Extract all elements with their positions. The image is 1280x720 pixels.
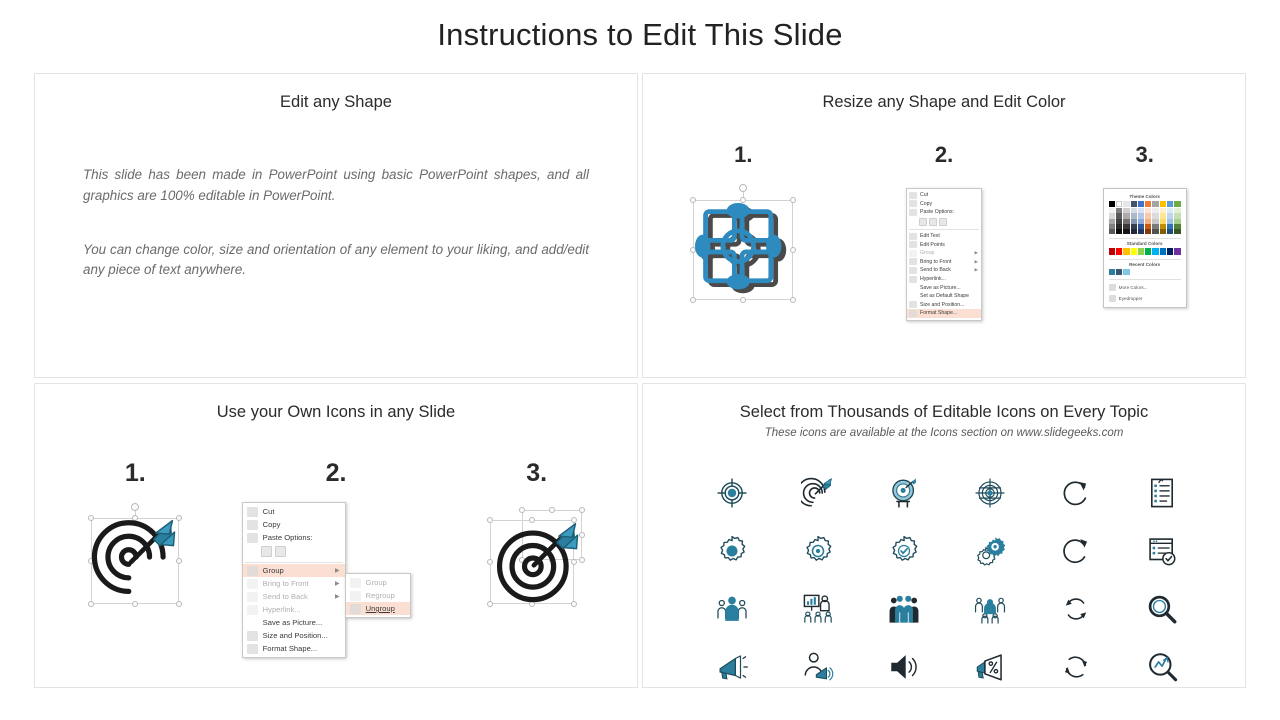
panel-edit-any-shape: Edit any Shape This slide has been made … [34, 73, 638, 378]
ctx-item-save-as-picture[interactable]: Save as Picture... [243, 616, 345, 629]
selected-shape-wrapper[interactable] [684, 186, 802, 304]
crosshair-target-icon[interactable] [715, 476, 749, 510]
resize-step-1-number: 1. [643, 142, 844, 168]
group-icon [909, 250, 917, 257]
swatch-orange[interactable] [1123, 248, 1129, 254]
chevron-right-icon: ▶ [335, 593, 340, 600]
standard-colors-label: Standard Colors [1109, 241, 1181, 246]
format-shape-icon [909, 310, 917, 317]
recent-colors-label: Recent Colors [1109, 262, 1181, 267]
swatch-green[interactable] [1145, 248, 1151, 254]
ctx-item-label: Save as Picture... [920, 285, 961, 291]
own-icons-step-1-number: 1. [35, 459, 236, 488]
ctx-item-bring-to-front[interactable]: Bring to Front ▶ [907, 258, 981, 267]
gear-check-icon[interactable] [887, 534, 921, 568]
ctx-item-label: Paste Options: [920, 209, 954, 215]
paste-option-buttons[interactable] [243, 544, 345, 560]
theme-tints-grid[interactable] [1109, 208, 1181, 234]
edit-text-icon [909, 233, 917, 240]
resize-step-2-art: Cut Copy Paste Options: [844, 188, 1045, 321]
submenu-item-label: Group [366, 578, 387, 587]
swatch-gray[interactable] [1152, 201, 1158, 207]
resize-step-3-art: Theme Colors [1044, 188, 1245, 308]
four-square-circle-shape [695, 202, 791, 298]
presentation-training-icon[interactable] [801, 592, 835, 626]
edit-points-icon [909, 241, 917, 248]
ctx-item-edit-points[interactable]: Edit Points [907, 240, 981, 249]
send-to-back-icon [247, 592, 258, 602]
swatch-black[interactable] [1109, 201, 1115, 207]
person-megaphone-icon[interactable] [801, 650, 835, 684]
save-picture-icon [909, 284, 917, 291]
tint-column[interactable] [1116, 208, 1122, 234]
own-icons-step-3-number: 3. [436, 459, 637, 488]
ungrouped-target-wrapper[interactable] [486, 506, 588, 606]
ctx-item-label: Send to Back [920, 267, 951, 273]
swatch-light-gray[interactable] [1123, 201, 1129, 207]
swatch-yellow[interactable] [1131, 248, 1137, 254]
tint-column[interactable] [1138, 208, 1144, 234]
ctx-item-size-and-position[interactable]: Size and Position... [243, 629, 345, 642]
ctx-item-label: Copy [920, 201, 932, 207]
page-title: Instructions to Edit This Slide [0, 0, 1280, 53]
meeting-group-icon[interactable] [973, 592, 1007, 626]
ctx-item-label: Format Shape... [920, 310, 957, 316]
swatch-dark-red[interactable] [1109, 248, 1115, 254]
ctx-item-size-and-position[interactable]: Size and Position... [907, 301, 981, 310]
icon-library-subtitle: These icons are available at the Icons s… [643, 422, 1245, 439]
own-icons-step-2: 2. Cut Copy [236, 459, 437, 658]
ctx-item-copy[interactable]: Copy [243, 518, 345, 531]
swatch-orange[interactable] [1145, 201, 1151, 207]
ctx-item-save-as-picture[interactable]: Save as Picture... [907, 283, 981, 292]
ctx-item-group: Group ▶ [907, 249, 981, 258]
panel-title-edit-shape: Edit any Shape [35, 74, 637, 112]
regroup-icon [350, 591, 361, 601]
scissors-icon [909, 192, 917, 199]
swatch-recent-teal[interactable] [1109, 269, 1115, 275]
ctx-item-group[interactable]: Group ▶ [243, 564, 345, 577]
ctx-item-hyperlink: Hyperlink... [243, 603, 345, 616]
tint-column[interactable] [1123, 208, 1129, 234]
theme-colors-row[interactable] [1109, 201, 1181, 207]
submenu-item-ungroup[interactable]: Ungroup [346, 602, 410, 615]
picker-divider [1109, 259, 1181, 260]
ungroup-icon [350, 604, 361, 614]
dartboard-arrow-icon[interactable] [801, 476, 835, 510]
tint-column[interactable] [1145, 208, 1151, 234]
rotate-handle[interactable] [739, 184, 747, 192]
ctx-item-label: Edit Text [920, 233, 940, 239]
paste-option-buttons[interactable] [907, 217, 981, 228]
send-to-back-icon [909, 267, 917, 274]
magnifier-chart-icon[interactable] [1145, 650, 1179, 684]
speaker-icon[interactable] [887, 650, 921, 684]
own-icons-step-3-art [436, 506, 637, 606]
ctx-item-label: Hyperlink... [263, 605, 301, 614]
ctx-item-label: Set as Default Shape [920, 293, 969, 299]
more-colors-option[interactable]: More Colors... [1109, 282, 1181, 293]
scope-crosshair-icon[interactable] [973, 476, 1007, 510]
submenu-item-group: Group [346, 576, 410, 589]
double-gear-icon[interactable] [973, 534, 1007, 568]
swatch-white[interactable] [1116, 201, 1122, 207]
ctx-item-cut[interactable]: Cut [243, 505, 345, 518]
paste-merge-formatting-icon[interactable] [929, 218, 937, 226]
eyedropper-option[interactable]: Eyedropper [1109, 293, 1181, 304]
swatch-red[interactable] [1116, 248, 1122, 254]
shape-context-menu[interactable]: Cut Copy Paste Options: [906, 188, 982, 321]
chevron-right-icon: ▶ [975, 259, 978, 265]
ctx-item-hyperlink[interactable]: Hyperlink... [907, 275, 981, 284]
swatch-light-blue[interactable] [1167, 201, 1173, 207]
ctx-item-cut[interactable]: Cut [907, 191, 981, 200]
picker-divider [1109, 238, 1181, 239]
hyperlink-icon [247, 605, 258, 615]
ctx-item-bring-to-front: Bring to Front ▶ [243, 577, 345, 590]
bring-to-front-icon [247, 579, 258, 589]
rotate-clockwise-icon[interactable] [1059, 476, 1093, 510]
paste-keep-formatting-icon[interactable] [261, 546, 272, 557]
color-picker-panel[interactable]: Theme Colors [1103, 188, 1187, 308]
ctx-item-send-to-back: Send to Back ▶ [243, 590, 345, 603]
tint-column[interactable] [1174, 208, 1180, 234]
team-leader-icon[interactable] [715, 592, 749, 626]
ctx-item-label: Bring to Front [263, 579, 309, 588]
own-icons-step-1: 1. [35, 459, 236, 658]
target-dart-icon [485, 506, 589, 610]
resize-step-2: 2. Cut Copy [844, 142, 1045, 321]
swatch-light-green[interactable] [1138, 248, 1144, 254]
ctx-item-label: Edit Points [920, 242, 945, 248]
swatch-blue[interactable] [1138, 201, 1144, 207]
own-icons-step-2-art: Cut Copy Paste Options: [236, 502, 437, 658]
ctx-item-label: Group [263, 566, 284, 575]
selected-target-wrapper[interactable] [85, 506, 185, 606]
resize-step-3-number: 3. [1044, 142, 1245, 168]
picker-divider [1109, 279, 1181, 280]
ctx-item-label: Copy [263, 520, 281, 529]
slide-root: Instructions to Edit This Slide Edit any… [0, 0, 1280, 720]
ctx-item-label: Cut [263, 507, 275, 516]
panel-grid: Edit any Shape This slide has been made … [34, 73, 1246, 693]
ctx-item-format-shape[interactable]: Format Shape... [243, 642, 345, 655]
resize-step-2-number: 2. [844, 142, 1045, 168]
chevron-right-icon: ▶ [335, 567, 340, 574]
refresh-circle-icon[interactable] [1059, 534, 1093, 568]
submenu-item-label: Ungroup [366, 604, 395, 613]
save-picture-icon [247, 618, 258, 628]
chevron-right-icon: ▶ [975, 250, 978, 256]
swatch-light-blue[interactable] [1152, 248, 1158, 254]
paste-picture-icon[interactable] [939, 218, 947, 226]
tint-column[interactable] [1160, 208, 1166, 234]
panel-icon-library: Select from Thousands of Editable Icons … [642, 383, 1246, 688]
group-icon [247, 566, 258, 576]
edit-shape-paragraph-2: You can change color, size and orientati… [83, 240, 589, 282]
ctx-item-label: Format Shape... [263, 644, 317, 653]
eyedropper-label: Eyedropper [1119, 296, 1143, 301]
group-context-menu[interactable]: Cut Copy Paste Options: [242, 502, 346, 658]
resize-step-1-art [643, 186, 844, 304]
ctx-item-label: Cut [920, 192, 928, 198]
ctx-item-set-default-shape[interactable]: Set as Default Shape [907, 292, 981, 301]
clipboard-icon [909, 209, 917, 216]
magnifier-icon[interactable] [1145, 592, 1179, 626]
gear-filled-icon[interactable] [715, 534, 749, 568]
ctx-item-label: Group [920, 250, 934, 256]
size-position-icon [909, 301, 917, 308]
resize-shape-steps: 1. [643, 142, 1245, 321]
swatch-dark-blue[interactable] [1167, 248, 1173, 254]
submenu-item-regroup: Regroup [346, 589, 410, 602]
own-icons-step-2-number: 2. [236, 459, 437, 488]
swatch-recent-navy[interactable] [1116, 269, 1122, 275]
bring-to-front-icon [909, 258, 917, 265]
own-icons-steps: 1. [35, 459, 637, 658]
swatch-dark-blue[interactable] [1131, 201, 1137, 207]
team-group-icon[interactable] [887, 592, 921, 626]
target-stand-icon[interactable] [887, 476, 921, 510]
swatch-green[interactable] [1174, 201, 1180, 207]
group-submenu[interactable]: Group Regroup Ungroup [345, 573, 411, 618]
paste-picture-icon[interactable] [275, 546, 286, 557]
ctx-item-label: Bring to Front [920, 259, 951, 265]
target-dart-icon [83, 504, 187, 608]
ctx-item-send-to-back[interactable]: Send to Back ▶ [907, 266, 981, 275]
swatch-purple[interactable] [1174, 248, 1180, 254]
size-position-icon [247, 631, 258, 641]
panel-title-resize-shape: Resize any Shape and Edit Color [643, 74, 1245, 112]
ctx-item-label: Send to Back [263, 592, 308, 601]
resize-step-1: 1. [643, 142, 844, 321]
ctx-item-paste-options[interactable]: Paste Options: [243, 531, 345, 544]
panel-resize-shape: Resize any Shape and Edit Color 1. [642, 73, 1246, 378]
panel-title-icon-library: Select from Thousands of Editable Icons … [643, 384, 1245, 422]
tint-column[interactable] [1152, 208, 1158, 234]
ctx-item-label: Size and Position... [263, 631, 328, 640]
hyperlink-icon [909, 276, 917, 283]
panel-own-icons: Use your Own Icons in any Slide 1. [34, 383, 638, 688]
eyedropper-icon [1109, 295, 1116, 302]
ctx-item-label: Paste Options: [263, 533, 313, 542]
ctx-divider [909, 229, 979, 230]
cycle-arrows-icon[interactable] [1059, 650, 1093, 684]
ctx-item-label: Size and Position... [920, 302, 964, 308]
chevron-right-icon: ▶ [335, 580, 340, 587]
ctx-item-copy[interactable]: Copy [907, 200, 981, 209]
ctx-item-paste-options[interactable]: Paste Options: [907, 208, 981, 217]
ctx-divider [245, 562, 343, 563]
submenu-item-label: Regroup [366, 591, 395, 600]
scissors-icon [247, 507, 258, 517]
theme-colors-label: Theme Colors [1109, 194, 1181, 199]
panel-title-own-icons: Use your Own Icons in any Slide [35, 384, 637, 422]
copy-icon [247, 520, 258, 530]
tint-column[interactable] [1109, 208, 1115, 234]
copy-icon [909, 200, 917, 207]
edit-shape-paragraph-1: This slide has been made in PowerPoint u… [83, 165, 589, 207]
checklist-document-icon[interactable] [1145, 476, 1179, 510]
paste-keep-formatting-icon[interactable] [919, 218, 927, 226]
ctx-item-label: Save as Picture... [263, 618, 323, 627]
palette-icon [1109, 284, 1116, 291]
own-icons-step-1-art [35, 506, 236, 606]
tint-column[interactable] [1131, 208, 1137, 234]
group-icon [350, 578, 361, 588]
default-shape-icon [909, 293, 917, 300]
swatch-blue[interactable] [1160, 248, 1166, 254]
ctx-item-format-shape[interactable]: Format Shape... [907, 309, 981, 318]
format-shape-icon [247, 644, 258, 654]
swatch-gold[interactable] [1160, 201, 1166, 207]
gear-outline-icon[interactable] [801, 534, 835, 568]
resize-step-3: 3. Theme Colors [1044, 142, 1245, 321]
own-icons-step-3: 3. [436, 459, 637, 658]
swatch-recent-sky[interactable] [1123, 269, 1129, 275]
sync-arrows-icon[interactable] [1059, 592, 1093, 626]
checklist-approved-icon[interactable] [1145, 534, 1179, 568]
standard-colors-row[interactable] [1109, 248, 1181, 254]
more-colors-label: More Colors... [1119, 285, 1148, 290]
icon-library-grid [689, 464, 1205, 688]
chevron-right-icon: ▶ [975, 267, 978, 273]
ctx-item-label: Hyperlink... [920, 276, 946, 282]
megaphone-percent-icon[interactable] [973, 650, 1007, 684]
tint-column[interactable] [1167, 208, 1173, 234]
megaphone-icon[interactable] [715, 650, 749, 684]
clipboard-icon [247, 533, 258, 543]
ctx-item-edit-text[interactable]: Edit Text [907, 232, 981, 241]
recent-colors-row[interactable] [1109, 269, 1181, 275]
